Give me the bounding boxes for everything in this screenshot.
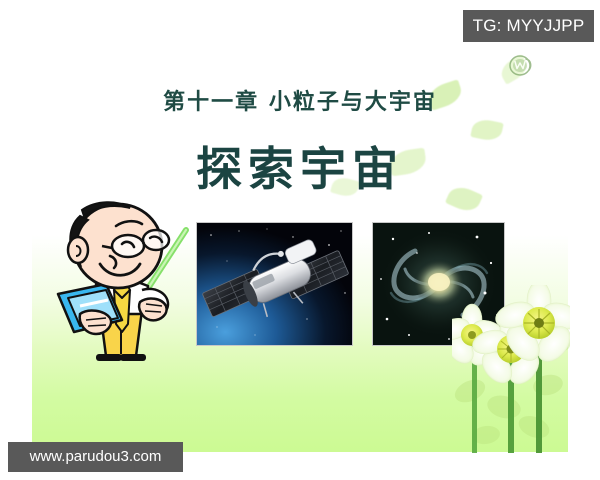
narcissus-flowers-decoration [452, 285, 570, 453]
status-badge: TG: MYYJJPP [463, 10, 594, 42]
hubble-space-telescope-photo [196, 222, 353, 346]
site-watermark: www.parudou3.com [8, 442, 183, 472]
chapter-subtitle: 第十一章 小粒子与大宇宙 [0, 84, 600, 116]
page-title: 探索宇宙 [0, 133, 600, 199]
slide-canvas: 第十一章 小粒子与大宇宙 探索宇宙 [0, 0, 600, 480]
cartoon-teacher-illustration [44, 198, 204, 370]
publisher-emblem-icon [506, 53, 536, 79]
